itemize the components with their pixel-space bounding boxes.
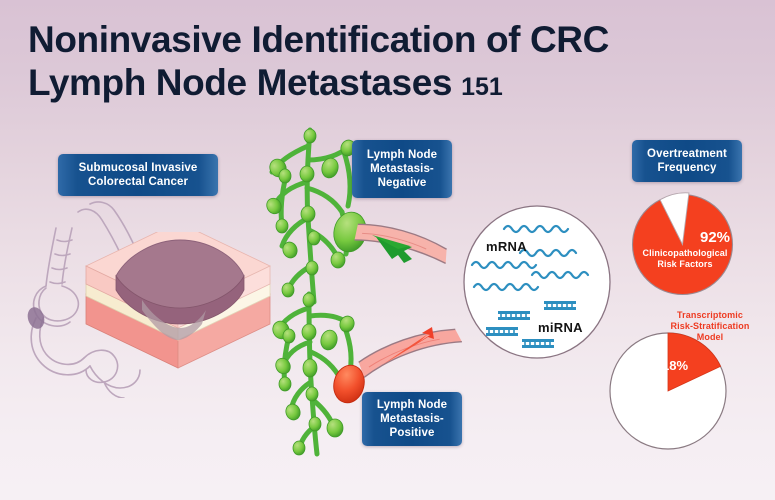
mirna-label: miRNA <box>538 320 583 335</box>
callout-submucosal-line1: Submucosal Invasive <box>79 161 198 175</box>
page-title: Noninvasive Identification of CRC Lymph … <box>28 18 748 105</box>
callout-overtreatment-frequency: Overtreatment Frequency <box>632 140 742 182</box>
title-number: 151 <box>461 73 503 101</box>
pie-bottom-caption-line3: Model <box>650 332 770 343</box>
tissue-block-illustration <box>78 232 278 377</box>
pie-bottom-value: 18% <box>662 358 688 373</box>
callout-ln-pos-line3: Positive <box>377 426 447 440</box>
callout-overtx-line2: Frequency <box>647 161 727 175</box>
pie-bottom-caption-line1: Transcriptomic <box>650 310 770 321</box>
graphical-abstract: Noninvasive Identification of CRC Lymph … <box>0 0 775 500</box>
callout-ln-pos-line1: Lymph Node <box>377 398 447 412</box>
callout-submucosal-line2: Colorectal Cancer <box>79 175 198 189</box>
pie-chart-transcriptomic-risk-model <box>607 330 729 452</box>
callout-ln-neg-line1: Lymph Node <box>367 148 437 162</box>
title-line-2-row: Lymph Node Metastases151 <box>28 61 748 104</box>
pie-top-value: 92% <box>700 229 730 246</box>
pie-top-caption-line1: Clinicopathological <box>622 248 748 259</box>
rna-panel <box>462 205 612 360</box>
title-line-2: Lymph Node Metastases <box>28 62 452 103</box>
vessel-positive-with-arrow <box>352 305 472 385</box>
callout-lymph-node-metastasis-negative: Lymph Node Metastasis- Negative <box>352 140 452 198</box>
pie-top-caption-line2: Risk Factors <box>622 259 748 270</box>
colon-lesion-marker <box>25 305 47 331</box>
pie-top-caption: Clinicopathological Risk Factors <box>622 248 748 270</box>
callout-ln-neg-line3: Negative <box>367 176 437 190</box>
mrna-label: mRNA <box>486 239 527 254</box>
pie-bottom-caption: Transcriptomic Risk-Stratification Model <box>650 310 770 342</box>
vessel-negative-with-arrow <box>352 213 462 283</box>
callout-ln-neg-line2: Metastasis- <box>367 162 437 176</box>
callout-submucosal-invasive-crc: Submucosal Invasive Colorectal Cancer <box>58 154 218 196</box>
pie-bottom-caption-line2: Risk-Stratification <box>650 321 770 332</box>
callout-ln-pos-line2: Metastasis- <box>377 412 447 426</box>
callout-overtx-line1: Overtreatment <box>647 147 727 161</box>
callout-lymph-node-metastasis-positive: Lymph Node Metastasis- Positive <box>362 392 462 446</box>
title-line-1: Noninvasive Identification of CRC <box>28 18 748 61</box>
